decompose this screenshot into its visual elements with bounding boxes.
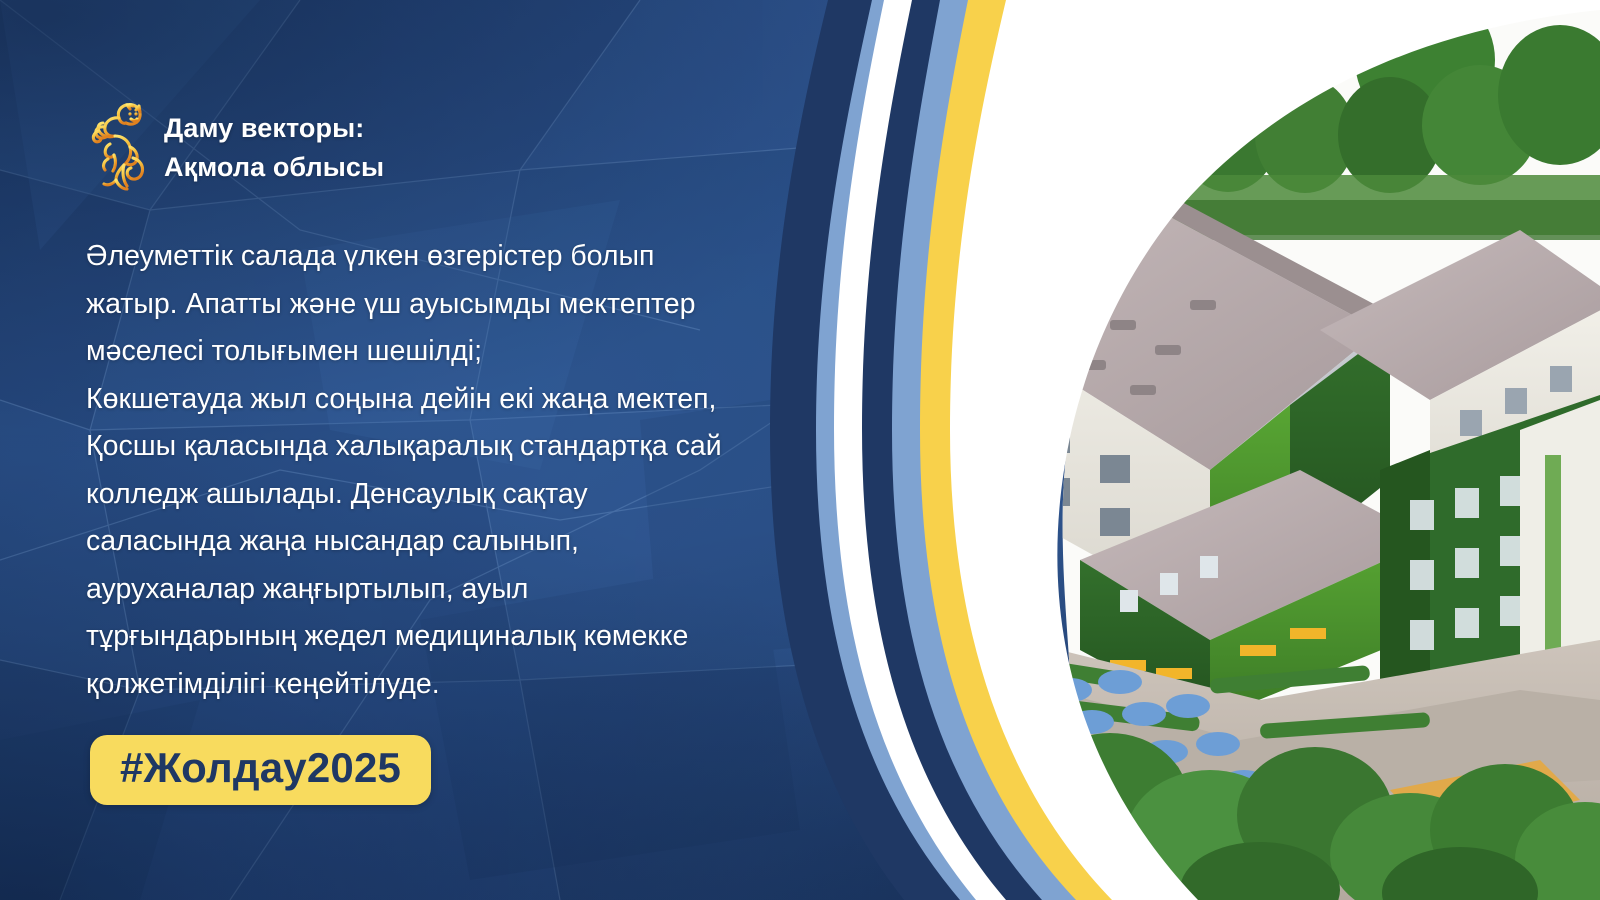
body-line: колледж ашылады. Денсаулық сақтау <box>86 471 876 519</box>
title-line-2: Ақмола облысы <box>164 148 384 187</box>
presentation-slide: Даму векторы: Ақмола облысы Әлеуметтік с… <box>0 0 1600 900</box>
body-line: ауруханалар жаңғыртылып, ауыл <box>86 566 876 614</box>
body-line: Қосшы қаласында халықаралық стандартқа с… <box>86 423 876 471</box>
body-line: Көкшетауда жыл соңына дейін екі жаңа мек… <box>86 376 876 424</box>
page-title: Даму векторы: Ақмола облысы <box>164 105 384 187</box>
body-paragraph: Әлеуметтік салада үлкен өзгерістер болып… <box>86 233 876 708</box>
content-column: Даму векторы: Ақмола облысы Әлеуметтік с… <box>86 0 886 900</box>
body-line: тұрғындарының жедел медициналық көмекке <box>86 613 876 661</box>
body-line: жатыр. Апатты және үш ауысымды мектептер <box>86 281 876 329</box>
body-line: қолжетімділігі кеңейтілуде. <box>86 661 876 709</box>
snow-leopard-emblem-icon <box>86 96 148 196</box>
body-line: Әлеуметтік салада үлкен өзгерістер болып <box>86 233 876 281</box>
body-line: саласында жаңа нысандар салынып, <box>86 518 876 566</box>
hashtag-badge: #Жолдау2025 <box>90 735 431 805</box>
brand-header: Даму векторы: Ақмола облысы <box>86 96 384 196</box>
body-line: мәселесі толығымен шешілді; <box>86 328 876 376</box>
title-line-1: Даму векторы: <box>164 109 384 148</box>
